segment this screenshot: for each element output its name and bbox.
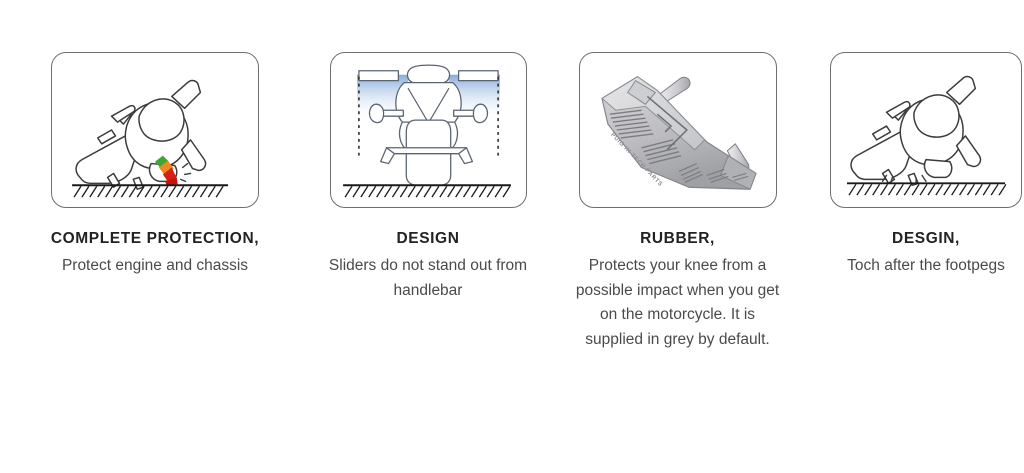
feature-caption: DESIGN Sliders do not stand out from han… xyxy=(322,228,534,303)
feature-title: DESIGN xyxy=(322,228,534,250)
motorcycle-fallen-on-side-with-slider-contact-arrow-icon xyxy=(52,53,258,207)
feature-body: Protect engine and chassis xyxy=(47,254,263,278)
motorcycle-front-view-handlebar-width-dashed-lines-icon xyxy=(331,53,526,207)
feature-highlights-strip: COMPLETE PROTECTION, Protect engine and … xyxy=(0,0,1024,473)
feature-caption: COMPLETE PROTECTION, Protect engine and … xyxy=(47,228,263,279)
feature-item-design: DESIGN Sliders do not stand out from han… xyxy=(326,0,530,303)
feature-item-rubber: PUIG HI-TECH PARTS RUBBER, Protects your… xyxy=(575,0,780,352)
illustration-card-rubber-knee-protector: PUIG HI-TECH PARTS xyxy=(579,52,777,208)
feature-body: Toch after the footpegs xyxy=(816,254,1024,278)
feature-body: Protects your knee from a possible impac… xyxy=(571,254,785,352)
feature-title: DESGIN, xyxy=(816,228,1024,250)
feature-item-desgin-footpegs: DESGIN, Toch after the footpegs xyxy=(828,0,1024,279)
feature-body: Sliders do not stand out from handlebar xyxy=(322,254,534,303)
grey-rubber-knee-protector-part-icon: PUIG HI-TECH PARTS xyxy=(580,53,776,207)
illustration-card-motorcycle-fallen-slider xyxy=(51,52,259,208)
motorcycle-fallen-on-side-resting-on-footpegs-icon xyxy=(831,53,1021,207)
feature-caption: DESGIN, Toch after the footpegs xyxy=(816,228,1024,279)
feature-title: COMPLETE PROTECTION, xyxy=(47,228,263,250)
feature-caption: RUBBER, Protects your knee from a possib… xyxy=(571,228,785,352)
feature-title: RUBBER, xyxy=(571,228,785,250)
illustration-card-motorcycle-front-view xyxy=(330,52,527,208)
illustration-card-motorcycle-fallen-footpegs xyxy=(830,52,1022,208)
feature-item-complete-protection: COMPLETE PROTECTION, Protect engine and … xyxy=(34,0,276,279)
